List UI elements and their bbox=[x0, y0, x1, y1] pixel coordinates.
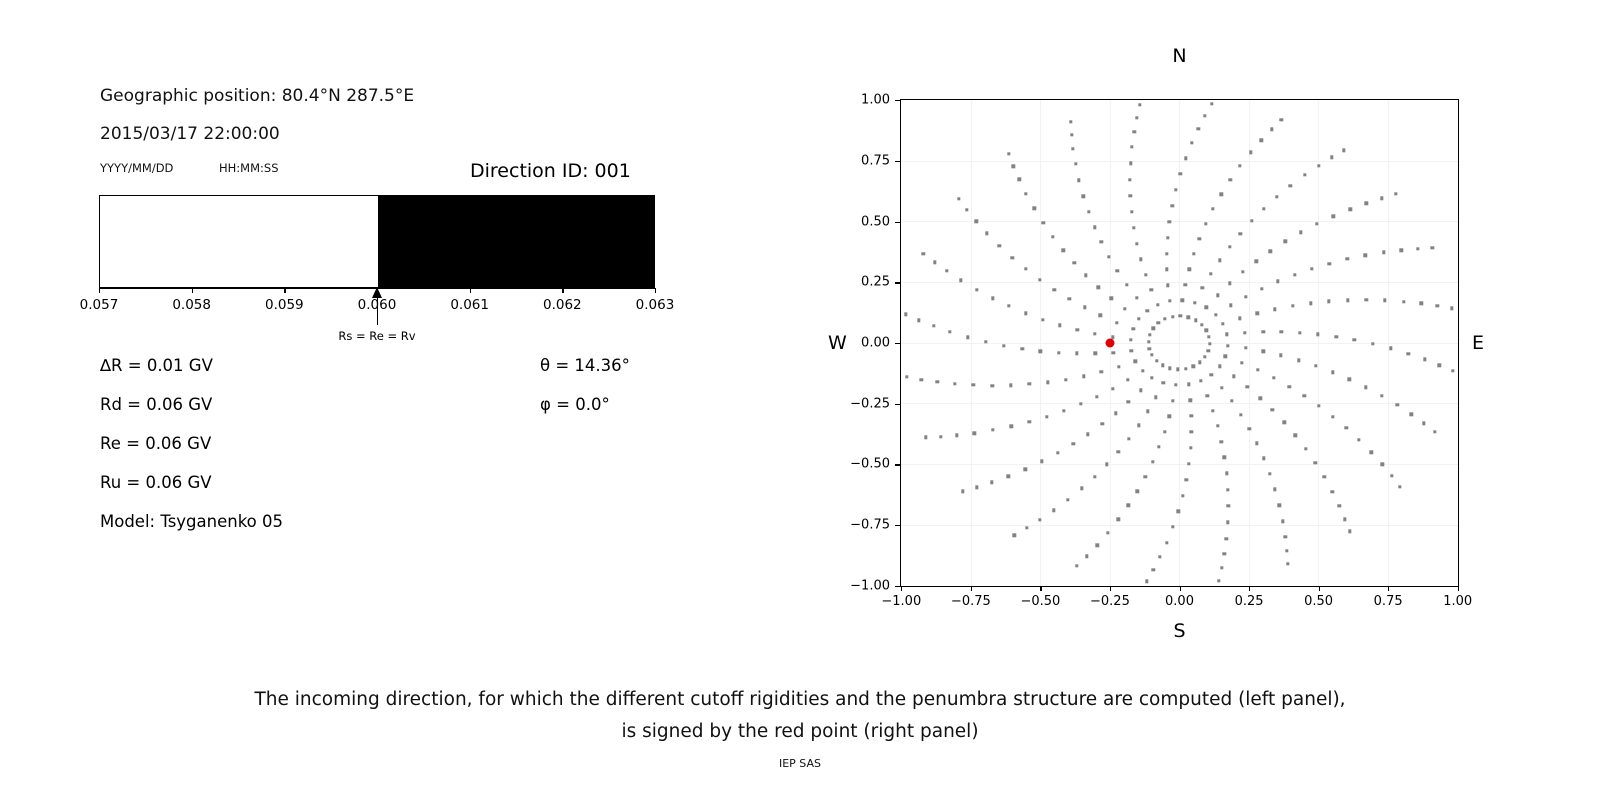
gridline-horizontal bbox=[901, 161, 1458, 162]
direction-sample-dot bbox=[972, 383, 975, 386]
direction-sample-dot bbox=[1148, 347, 1151, 350]
direction-sample-dot bbox=[1013, 533, 1016, 536]
direction-sample-dot bbox=[945, 269, 948, 272]
direction-sample-dot bbox=[1109, 297, 1112, 300]
direction-sample-dot bbox=[1161, 364, 1164, 367]
direction-sample-dot bbox=[1416, 247, 1419, 250]
gridline-horizontal bbox=[901, 464, 1458, 465]
parameter-row: Ru = 0.06 GV bbox=[100, 473, 212, 492]
direction-sample-dot bbox=[1033, 207, 1036, 210]
direction-sample-dot bbox=[1407, 352, 1410, 355]
direction-sample-dot bbox=[1131, 327, 1134, 330]
direction-sample-dot bbox=[1198, 237, 1201, 240]
penumbra-bar bbox=[99, 195, 655, 288]
direction-sample-dot bbox=[1422, 422, 1425, 425]
direction-sample-dot bbox=[1074, 162, 1077, 165]
direction-sample-dot bbox=[1162, 381, 1165, 384]
direction-sample-dot bbox=[1279, 354, 1282, 357]
direction-sample-dot bbox=[1348, 378, 1351, 381]
direction-sample-dot bbox=[1380, 463, 1383, 466]
parameter-row: Re = 0.06 GV bbox=[100, 434, 211, 453]
direction-sample-dot bbox=[1291, 304, 1294, 307]
direction-sample-dot bbox=[1052, 288, 1055, 291]
direction-sample-dot bbox=[1207, 335, 1210, 338]
direction-sample-dot bbox=[1255, 312, 1258, 315]
direction-sample-dot bbox=[1278, 503, 1281, 506]
direction-sample-dot bbox=[1250, 219, 1253, 222]
direction-sample-dot bbox=[1148, 333, 1151, 336]
direction-sample-dot bbox=[1163, 430, 1166, 433]
direction-sample-dot bbox=[1171, 399, 1174, 402]
direction-sample-dot bbox=[1187, 316, 1190, 319]
x-axis-tick bbox=[1040, 586, 1041, 591]
penumbra-tick bbox=[284, 288, 285, 293]
x-axis-tick bbox=[1319, 586, 1320, 591]
direction-sample-dot bbox=[1024, 192, 1027, 195]
y-axis-tick-label: −0.50 bbox=[838, 457, 890, 472]
direction-sample-dot bbox=[975, 486, 978, 489]
direction-sample-dot bbox=[1069, 120, 1072, 123]
direction-sample-dot bbox=[924, 436, 927, 439]
direction-sample-dot bbox=[1271, 408, 1274, 411]
direction-sample-dot bbox=[1398, 485, 1401, 488]
direction-sample-dot bbox=[1025, 526, 1028, 529]
direction-sample-dot bbox=[1024, 267, 1027, 270]
direction-sample-dot bbox=[1280, 118, 1283, 121]
direction-sample-dot bbox=[1268, 472, 1271, 475]
direction-sample-dot bbox=[1284, 535, 1287, 538]
direction-sample-dot bbox=[984, 340, 987, 343]
direction-sample-dot bbox=[1382, 251, 1385, 254]
direction-sample-dot bbox=[1226, 344, 1229, 347]
direction-sample-dot bbox=[1097, 286, 1100, 289]
direction-sample-dot bbox=[1041, 318, 1044, 321]
penumbra-tick bbox=[99, 288, 100, 293]
direction-sample-dot bbox=[1151, 460, 1154, 463]
direction-sample-dot bbox=[1225, 472, 1228, 475]
direction-sample-dot bbox=[1087, 210, 1090, 213]
direction-sample-dot bbox=[1219, 193, 1222, 196]
direction-sample-dot bbox=[991, 428, 994, 431]
direction-sample-dot bbox=[1190, 414, 1193, 417]
penumbra-tick bbox=[470, 288, 471, 293]
direction-sample-dot bbox=[1099, 314, 1102, 317]
penumbra-segment-allowed bbox=[100, 196, 378, 287]
direction-sample-dot bbox=[1256, 368, 1259, 371]
y-axis-tick bbox=[895, 404, 900, 405]
direction-sample-dot bbox=[1194, 318, 1197, 321]
direction-sample-dot bbox=[1134, 360, 1137, 363]
direction-sample-dot bbox=[1168, 415, 1171, 418]
direction-sample-dot bbox=[1010, 425, 1013, 428]
penumbra-tick bbox=[655, 288, 656, 293]
direction-sample-dot bbox=[1038, 518, 1041, 521]
direction-sample-dot bbox=[1190, 141, 1193, 144]
direction-sample-dot bbox=[1181, 299, 1184, 302]
direction-sample-dot bbox=[1147, 340, 1150, 343]
parameter-row: φ = 0.0° bbox=[540, 395, 610, 414]
direction-sample-dot bbox=[1284, 240, 1287, 243]
direction-sample-dot bbox=[955, 434, 958, 437]
direction-sample-dot bbox=[1190, 430, 1193, 433]
direction-sample-dot bbox=[1205, 394, 1208, 397]
y-axis-tick bbox=[895, 161, 900, 162]
direction-sample-dot bbox=[1146, 410, 1149, 413]
direction-sample-dot bbox=[1226, 521, 1229, 524]
direction-sample-dot bbox=[1150, 353, 1153, 356]
direction-sample-dot bbox=[1304, 447, 1307, 450]
direction-sample-dot bbox=[1126, 378, 1129, 381]
direction-sample-dot bbox=[1141, 369, 1144, 372]
direction-sample-dot bbox=[1299, 231, 1302, 234]
direction-sample-dot bbox=[1238, 232, 1241, 235]
direction-sample-dot bbox=[1282, 421, 1285, 424]
direction-sample-dot bbox=[1040, 460, 1043, 463]
direction-sample-dot bbox=[1238, 164, 1241, 167]
time-format-hint: HH:MM:SS bbox=[219, 161, 279, 175]
direction-sample-dot bbox=[1150, 288, 1153, 291]
direction-sample-dot bbox=[1327, 300, 1330, 303]
direction-sample-dot bbox=[1185, 478, 1188, 481]
direction-sample-dot bbox=[1100, 240, 1103, 243]
direction-sample-dot bbox=[1209, 272, 1212, 275]
direction-sample-dot bbox=[1024, 311, 1027, 314]
direction-sample-dot bbox=[1353, 338, 1356, 341]
caption-line-2: is signed by the red point (right panel) bbox=[0, 716, 1600, 748]
direction-sample-dot bbox=[1125, 283, 1128, 286]
direction-sample-dot bbox=[991, 297, 994, 300]
x-axis-tick-label: −0.25 bbox=[1090, 594, 1130, 609]
direction-sample-dot bbox=[1262, 207, 1265, 210]
direction-sample-dot bbox=[1342, 149, 1345, 152]
direction-sample-dot bbox=[1177, 510, 1180, 513]
direction-sample-dot bbox=[1438, 364, 1441, 367]
direction-sample-dot bbox=[1106, 531, 1109, 534]
direction-sample-dot bbox=[1058, 323, 1061, 326]
direction-sample-dot bbox=[1348, 530, 1351, 533]
direction-sample-dot bbox=[1258, 396, 1261, 399]
direction-sample-dot bbox=[1158, 555, 1161, 558]
direction-sample-dot bbox=[1346, 298, 1349, 301]
direction-sample-dot bbox=[1344, 426, 1347, 429]
direction-sample-dot bbox=[1262, 350, 1265, 353]
compass-north-label: N bbox=[1172, 45, 1186, 67]
direction-sample-dot bbox=[1198, 361, 1201, 364]
direction-sample-dot bbox=[1135, 296, 1138, 299]
direction-sample-dot bbox=[1027, 420, 1030, 423]
x-axis-tick-label: 0.50 bbox=[1304, 594, 1333, 609]
parameter-row: Rd = 0.06 GV bbox=[100, 395, 212, 414]
direction-sample-dot bbox=[1370, 450, 1373, 453]
direction-sample-dot bbox=[1007, 152, 1010, 155]
penumbra-tick-label: 0.058 bbox=[172, 297, 211, 313]
direction-sample-dot bbox=[1383, 299, 1386, 302]
direction-sample-dot bbox=[1105, 463, 1108, 466]
direction-sample-dot bbox=[985, 232, 988, 235]
direction-sample-dot bbox=[1228, 245, 1231, 248]
direction-sample-dot bbox=[1331, 215, 1334, 218]
direction-sample-dot bbox=[1009, 384, 1012, 387]
x-axis-tick-label: −1.00 bbox=[881, 594, 921, 609]
sky-direction-panel: N S W E −1.00−0.75−0.50−0.250.000.250.50… bbox=[820, 40, 1520, 650]
direction-sample-dot bbox=[1273, 488, 1276, 491]
direction-sample-dot bbox=[1314, 364, 1317, 367]
direction-sample-dot bbox=[1094, 352, 1097, 355]
direction-sample-dot bbox=[1056, 451, 1059, 454]
y-axis-tick bbox=[895, 222, 900, 223]
selected-direction-point bbox=[1105, 338, 1114, 347]
direction-sample-dot bbox=[1433, 430, 1436, 433]
direction-sample-dot bbox=[1400, 248, 1403, 251]
direction-sample-dot bbox=[959, 279, 962, 282]
direction-sample-dot bbox=[1243, 331, 1246, 334]
direction-sample-dot bbox=[1390, 474, 1393, 477]
direction-sample-dot bbox=[1281, 520, 1284, 523]
direction-sample-dot bbox=[1216, 424, 1219, 427]
penumbra-tick-label: 0.062 bbox=[543, 297, 582, 313]
gridline-horizontal bbox=[901, 221, 1458, 222]
direction-sample-dot bbox=[1117, 365, 1120, 368]
direction-sample-dot bbox=[1262, 457, 1265, 460]
direction-sample-dot bbox=[932, 324, 935, 327]
direction-sample-dot bbox=[1273, 308, 1276, 311]
direction-sample-dot bbox=[1255, 260, 1258, 263]
direction-sample-dot bbox=[1132, 226, 1135, 229]
direction-sample-dot bbox=[1064, 378, 1067, 381]
direction-sample-dot bbox=[1280, 330, 1283, 333]
direction-sample-dot bbox=[1107, 255, 1110, 258]
direction-sample-dot bbox=[1038, 278, 1041, 281]
rigidity-marker-arrow-head bbox=[372, 287, 382, 298]
direction-sample-dot bbox=[1225, 333, 1228, 336]
direction-sample-dot bbox=[1436, 304, 1439, 307]
direction-sample-dot bbox=[1269, 249, 1272, 252]
direction-sample-dot bbox=[1316, 333, 1319, 336]
direction-sample-dot bbox=[1214, 313, 1217, 316]
date-format-hint: YYYY/MM/DD bbox=[100, 161, 173, 175]
left-panel: Geographic position: 80.4°N 287.5°E 2015… bbox=[0, 0, 790, 660]
direction-sample-dot bbox=[1314, 461, 1317, 464]
direction-sample-dot bbox=[1303, 173, 1306, 176]
direction-sample-dot bbox=[1298, 331, 1301, 334]
direction-sample-dot bbox=[1255, 442, 1258, 445]
direction-sample-dot bbox=[1163, 317, 1166, 320]
direction-sample-dot bbox=[1166, 236, 1169, 239]
direction-sample-dot bbox=[1045, 415, 1048, 418]
y-axis-tick-label: 1.00 bbox=[838, 93, 890, 108]
gridline-horizontal bbox=[901, 403, 1458, 404]
direction-sample-dot bbox=[1071, 147, 1074, 150]
direction-id-label: Direction ID: 001 bbox=[470, 160, 631, 182]
direction-sample-dot bbox=[1204, 222, 1207, 225]
direction-sample-dot bbox=[1138, 103, 1141, 106]
direction-sample-dot bbox=[1145, 580, 1148, 583]
y-axis-tick bbox=[895, 525, 900, 526]
direction-sample-dot bbox=[1170, 204, 1173, 207]
direction-sample-dot bbox=[1073, 261, 1076, 264]
direction-sample-dot bbox=[1157, 321, 1160, 324]
direction-sample-dot bbox=[1117, 450, 1120, 453]
direction-sample-dot bbox=[1115, 321, 1118, 324]
direction-sample-dot bbox=[1225, 537, 1228, 540]
y-axis-tick bbox=[895, 586, 900, 587]
direction-sample-dot bbox=[1046, 381, 1049, 384]
direction-sample-dot bbox=[973, 431, 976, 434]
direction-sample-dot bbox=[948, 330, 951, 333]
direction-sample-dot bbox=[1364, 385, 1367, 388]
direction-sample-dot bbox=[1028, 382, 1031, 385]
direction-sample-dot bbox=[1093, 475, 1096, 478]
x-axis-tick-label: −0.50 bbox=[1020, 594, 1060, 609]
direction-sample-dot bbox=[975, 288, 978, 291]
caption-line-1: The incoming direction, for which the di… bbox=[0, 684, 1600, 716]
direction-sample-dot bbox=[1211, 409, 1214, 412]
x-axis-tick bbox=[1110, 586, 1111, 591]
direction-sample-dot bbox=[1244, 295, 1247, 298]
direction-sample-dot bbox=[1205, 306, 1208, 309]
direction-sample-dot bbox=[1041, 221, 1044, 224]
penumbra-segment-forbidden bbox=[378, 196, 655, 287]
compass-south-label: S bbox=[1173, 620, 1185, 642]
direction-sample-dot bbox=[1210, 102, 1213, 105]
direction-sample-dot bbox=[1011, 256, 1014, 259]
datetime-text: 2015/03/17 22:00:00 bbox=[100, 124, 280, 144]
direction-sample-dot bbox=[1380, 394, 1383, 397]
direction-sample-dot bbox=[939, 435, 942, 438]
direction-sample-dot bbox=[1187, 462, 1190, 465]
y-axis-tick-label: −1.00 bbox=[838, 578, 890, 593]
direction-sample-dot bbox=[1227, 504, 1230, 507]
direction-sample-dot bbox=[1051, 235, 1054, 238]
direction-sample-dot bbox=[961, 490, 964, 493]
direction-sample-dot bbox=[1018, 178, 1021, 181]
direction-sample-dot bbox=[1293, 273, 1296, 276]
direction-sample-dot bbox=[1145, 309, 1148, 312]
direction-sample-dot bbox=[1220, 386, 1223, 389]
direction-sample-dot bbox=[1288, 385, 1291, 388]
direction-sample-dot bbox=[1129, 338, 1132, 341]
y-axis-tick-label: −0.25 bbox=[838, 396, 890, 411]
direction-sample-dot bbox=[1178, 172, 1181, 175]
direction-sample-dot bbox=[1039, 349, 1042, 352]
penumbra-tick bbox=[562, 288, 563, 293]
direction-sample-dot bbox=[1187, 383, 1190, 386]
direction-sample-dot bbox=[975, 219, 978, 222]
direction-sample-dot bbox=[1130, 210, 1133, 213]
penumbra-tick-label: 0.061 bbox=[450, 297, 489, 313]
y-axis-tick-label: −0.75 bbox=[838, 518, 890, 533]
direction-sample-dot bbox=[1317, 404, 1320, 407]
direction-sample-dot bbox=[917, 318, 920, 321]
direction-sample-dot bbox=[1331, 371, 1334, 374]
organization-footer: IEP SAS bbox=[0, 757, 1600, 770]
direction-sample-dot bbox=[919, 378, 922, 381]
direction-sample-dot bbox=[1071, 442, 1074, 445]
direction-sample-dot bbox=[1229, 304, 1232, 307]
direction-sample-dot bbox=[1079, 402, 1082, 405]
direction-sample-dot bbox=[1224, 355, 1227, 358]
direction-sample-dot bbox=[1365, 298, 1368, 301]
direction-sample-dot bbox=[1084, 274, 1087, 277]
penumbra-bar-frame bbox=[99, 195, 655, 288]
direction-sample-dot bbox=[1228, 178, 1231, 181]
direction-sample-dot bbox=[1270, 128, 1273, 131]
direction-sample-dot bbox=[1260, 287, 1263, 290]
x-axis-tick bbox=[1458, 586, 1459, 591]
y-axis-tick-label: 0.25 bbox=[838, 275, 890, 290]
direction-sample-dot bbox=[1127, 504, 1130, 507]
direction-sample-dot bbox=[1223, 456, 1226, 459]
direction-sample-dot bbox=[1205, 329, 1208, 332]
direction-sample-dot bbox=[1203, 114, 1206, 117]
direction-sample-dot bbox=[1221, 322, 1224, 325]
direction-sample-dot bbox=[1200, 323, 1203, 326]
direction-sample-dot bbox=[1331, 415, 1334, 418]
direction-sample-dot bbox=[1080, 487, 1083, 490]
direction-sample-dot bbox=[1331, 490, 1334, 493]
x-axis-tick bbox=[971, 586, 972, 591]
direction-sample-dot bbox=[1197, 127, 1200, 130]
direction-sample-dot bbox=[1275, 195, 1278, 198]
direction-sample-dot bbox=[1303, 394, 1306, 397]
direction-sample-dot bbox=[1228, 282, 1231, 285]
direction-sample-dot bbox=[1154, 396, 1157, 399]
penumbra-tick-label: 0.063 bbox=[636, 297, 675, 313]
x-axis-tick bbox=[1249, 586, 1250, 591]
direction-sample-dot bbox=[1083, 306, 1086, 309]
direction-sample-dot bbox=[1144, 475, 1147, 478]
direction-sample-dot bbox=[1095, 395, 1098, 398]
direction-sample-dot bbox=[1135, 242, 1138, 245]
direction-sample-dot bbox=[1240, 361, 1243, 364]
direction-sample-dot bbox=[1364, 254, 1367, 257]
direction-sample-dot bbox=[1187, 267, 1190, 270]
direction-sample-dot bbox=[1343, 517, 1346, 520]
direction-sample-dot bbox=[1208, 342, 1211, 345]
direction-sample-dot bbox=[965, 208, 968, 211]
direction-sample-dot bbox=[1075, 352, 1078, 355]
direction-sample-dot bbox=[1174, 383, 1177, 386]
gridline-horizontal bbox=[901, 525, 1458, 526]
direction-sample-dot bbox=[1218, 258, 1221, 261]
direction-sample-dot bbox=[1137, 424, 1140, 427]
parameter-row: Model: Tsyganenko 05 bbox=[100, 512, 283, 531]
direction-sample-dot bbox=[1272, 376, 1275, 379]
direction-sample-dot bbox=[1082, 374, 1085, 377]
direction-sample-dot bbox=[1093, 332, 1096, 335]
direction-sample-dot bbox=[1217, 579, 1220, 582]
direction-sample-dot bbox=[935, 380, 938, 383]
direction-sample-dot bbox=[1210, 373, 1213, 376]
direction-sample-dot bbox=[1007, 304, 1010, 307]
direction-sample-dot bbox=[1337, 504, 1340, 507]
direction-sample-dot bbox=[1165, 268, 1168, 271]
direction-sample-dot bbox=[1111, 387, 1114, 390]
gridline-horizontal bbox=[901, 282, 1458, 283]
direction-sample-dot bbox=[1396, 403, 1399, 406]
direction-sample-dot bbox=[1007, 475, 1010, 478]
direction-sample-dot bbox=[1076, 328, 1079, 331]
direction-sample-dot bbox=[1114, 412, 1117, 415]
direction-sample-dot bbox=[1168, 220, 1171, 223]
y-axis-tick-label: 0.00 bbox=[838, 336, 890, 351]
direction-sample-dot bbox=[1136, 489, 1139, 492]
direction-sample-dot bbox=[1189, 398, 1192, 401]
direction-sample-dot bbox=[1394, 192, 1397, 195]
direction-sample-dot bbox=[1285, 549, 1288, 552]
direction-sample-dot bbox=[1193, 301, 1196, 304]
direction-sample-dot bbox=[1123, 307, 1126, 310]
